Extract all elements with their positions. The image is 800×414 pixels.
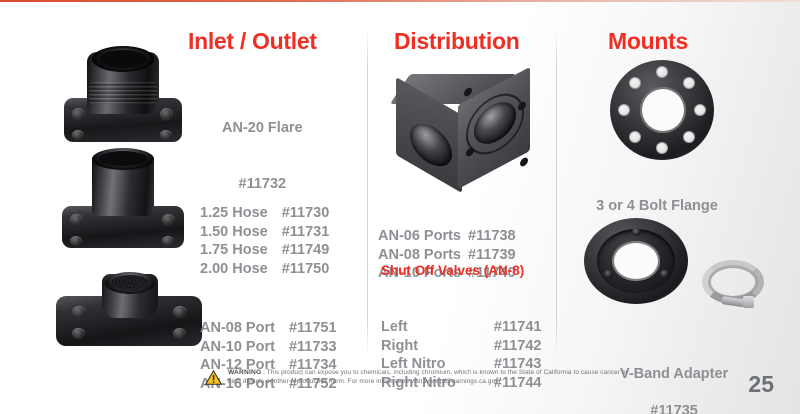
column-divider-2 — [556, 28, 557, 358]
spec-part-number: #11731 — [268, 223, 330, 242]
spec-row: 1.50 Hose #11731 — [200, 223, 329, 242]
bolt-hole — [520, 156, 528, 167]
spec-part-number: #11730 — [268, 204, 330, 223]
spec-row: AN-10 Port #11733 — [200, 338, 337, 357]
port-thread-inner — [111, 275, 149, 290]
bolt-hole — [694, 104, 706, 116]
spec-label: AN-08 Ports — [378, 246, 461, 265]
bolt-hole — [618, 104, 630, 116]
bolt-hole — [683, 131, 695, 143]
bolt-hole — [604, 270, 613, 278]
bolt-hole — [160, 130, 172, 140]
warning-text: WARNING : This product can expose you to… — [228, 369, 640, 386]
spec-row: 1.75 Hose #11749 — [200, 241, 329, 260]
spec-part-number: #11742 — [456, 337, 542, 356]
page-number: 25 — [748, 371, 774, 398]
bolt-hole — [656, 66, 668, 78]
bolt-hole — [660, 270, 669, 278]
spec-part-number: #11749 — [268, 241, 330, 260]
bolt-hole — [162, 214, 175, 226]
spec-row: Left #11741 — [381, 318, 542, 337]
bolt-hole — [160, 108, 173, 121]
spec-name: 3 or 4 Bolt Flange — [582, 197, 732, 216]
spec-label: Left — [381, 318, 456, 337]
spec-row: AN-08 Ports #11739 — [378, 246, 516, 265]
spec-label: 1.50 Hose — [200, 223, 268, 242]
spec-name: AN-20 Flare — [222, 119, 303, 138]
spec-label: AN-08 Port — [200, 319, 275, 338]
bolt-hole — [632, 228, 641, 236]
flare-wrench-flats — [89, 82, 157, 104]
spec-row: AN-08 Port #11751 — [200, 319, 337, 338]
spec-label: Right — [381, 337, 456, 356]
spec-port-fittings: AN-08 Port #11751 AN-10 Port #11733 AN-1… — [200, 282, 337, 414]
bolt-hole — [173, 328, 186, 339]
spec-vband: V-Band Adapter #11735 V-Band Clamp #1173… — [578, 309, 746, 414]
bolt-hole — [629, 131, 641, 143]
product-image-distribution-block — [390, 70, 540, 180]
flange-center-bore — [640, 87, 686, 133]
spec-shut-off-valves: Left #11741 Right #11742 Left Nitro #117… — [381, 281, 542, 414]
spec-part-number: #11733 — [275, 338, 337, 357]
subheading-shut-off-valves: Shut Off Valves (AN-8) — [381, 263, 524, 278]
spec-part-number: #11738 — [461, 227, 516, 246]
product-image-vband-clamp — [700, 258, 772, 314]
bolt-hole — [656, 142, 668, 154]
spec-label: 1.25 Hose — [200, 204, 268, 223]
column-title-inlet-outlet: Inlet / Outlet — [188, 28, 317, 55]
spec-part-number: #11735 — [650, 403, 698, 414]
bolt-hole — [162, 236, 174, 246]
column-title-distribution: Distribution — [394, 28, 519, 55]
spec-label: AN-06 Ports — [378, 227, 461, 246]
column-divider-1 — [367, 28, 368, 358]
warning-body: This product can expose you to chemicals… — [228, 369, 628, 385]
spec-part-number: #11750 — [268, 260, 330, 279]
product-image-hose-nipple — [58, 148, 188, 254]
hose-bore-inner — [99, 151, 147, 166]
product-image-vband-adapter — [584, 218, 688, 304]
bolt-hole — [629, 77, 641, 89]
product-image-an20-flare — [58, 42, 188, 146]
bolt-hole — [72, 306, 86, 318]
warning-label: WARNING — [228, 369, 261, 376]
product-image-bolt-flange — [610, 60, 714, 160]
spec-row: Right #11742 — [381, 337, 542, 356]
spec-part-number: #11751 — [275, 319, 337, 338]
spec-row: 2.00 Hose #11750 — [200, 260, 329, 279]
bolt-hole — [173, 306, 187, 318]
prop65-warning: WARNING : This product can expose you to… — [205, 369, 640, 390]
spec-label: AN-10 Port — [200, 338, 275, 357]
top-accent-rule — [0, 0, 800, 2]
bolt-hole — [72, 328, 85, 339]
clamp-band-inner — [708, 265, 758, 299]
spec-row: AN-06 Ports #11738 — [378, 227, 516, 246]
column-title-mounts: Mounts — [608, 28, 688, 55]
bolt-hole — [683, 77, 695, 89]
vband-center-bore — [612, 241, 660, 281]
spec-part-number: #11741 — [456, 318, 542, 337]
warning-triangle-icon — [205, 370, 222, 390]
flare-bore-inner — [99, 50, 147, 68]
bolt-hole — [70, 214, 83, 226]
bolt-hole — [72, 108, 85, 121]
clamp-nut — [743, 296, 754, 308]
bolt-hole — [72, 130, 84, 140]
bolt-hole — [70, 236, 82, 246]
spec-part-number: #11739 — [461, 246, 516, 265]
product-image-port-boss — [56, 264, 202, 356]
catalog-page: Inlet / Outlet Distribution Mounts AN-20… — [0, 0, 800, 414]
spec-label: 2.00 Hose — [200, 260, 268, 279]
spec-label: 1.75 Hose — [200, 241, 268, 260]
spec-row: 1.25 Hose #11730 — [200, 204, 329, 223]
